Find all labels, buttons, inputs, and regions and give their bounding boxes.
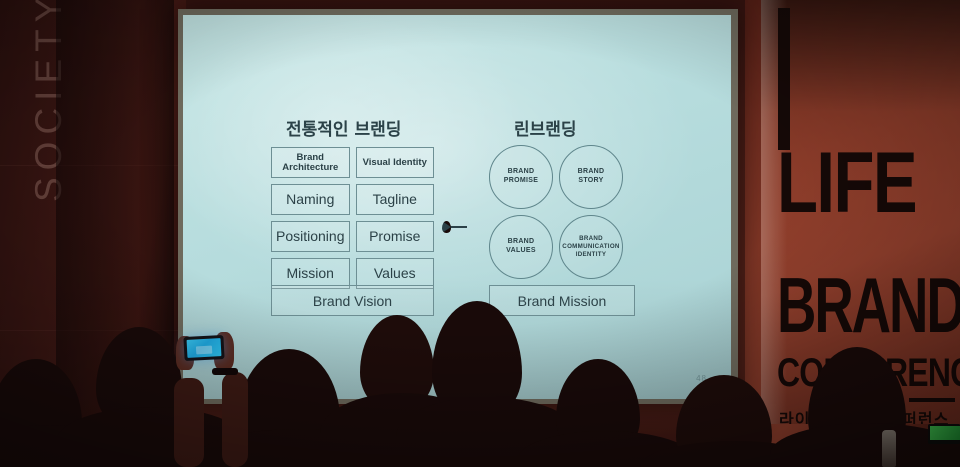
- cell-tagline: Tagline: [356, 184, 435, 215]
- lean-branding-circles: BRANDPROMISE BRANDSTORY BRANDVALUES BRAN…: [489, 145, 633, 277]
- grid-row: Positioning Promise: [271, 221, 434, 252]
- cell-label: Mission: [287, 266, 334, 281]
- box-brand-mission: Brand Mission: [489, 285, 635, 316]
- slide-heading-traditional: 전통적인 브랜딩: [286, 115, 401, 140]
- banner-line-conference: CONFERENCE: [777, 357, 960, 390]
- grid-row: Naming Tagline: [271, 184, 434, 215]
- laptop-screen: [930, 426, 960, 440]
- smartphone-camera: [183, 335, 224, 361]
- cell-visual-identity: Visual Identity: [356, 147, 435, 178]
- raised-arm: [222, 372, 248, 467]
- circle-label: BRANDSTORY: [578, 168, 605, 186]
- circle-label: BRANDCOMMUNICATIONIDENTITY: [562, 235, 619, 258]
- raised-arm: [174, 378, 204, 467]
- cell-label-line1: BrandArchitecture: [282, 153, 338, 173]
- cell-naming: Naming: [271, 184, 350, 215]
- slide-page-number: 48: [696, 374, 707, 383]
- wrist-band: [212, 368, 238, 375]
- projection-screen: 전통적인 브랜딩 린브랜딩 BrandArchitecture Visual I…: [183, 15, 731, 399]
- grid-row: BrandArchitecture Visual Identity: [271, 147, 434, 178]
- box-brand-vision: Brand Vision: [271, 285, 434, 316]
- laptop-device: [928, 424, 960, 444]
- phone-screen-content: [196, 346, 212, 355]
- circle-label: BRANDVALUES: [506, 238, 536, 256]
- banner-vertical-bar: [778, 8, 790, 150]
- phone-screen: [187, 338, 222, 358]
- arrow-head: [442, 221, 451, 233]
- cell-positioning: Positioning: [271, 221, 350, 252]
- cell-label: Tagline: [373, 192, 417, 207]
- cell-label: Promise: [369, 229, 420, 244]
- right-arrow-icon: [443, 215, 479, 239]
- slide-heading-lean: 린브랜딩: [514, 115, 577, 140]
- cell-brand-architecture: BrandArchitecture: [271, 147, 350, 178]
- circle-brand-communication-identity: BRANDCOMMUNICATIONIDENTITY: [559, 215, 623, 279]
- conference-photo-scene: SOCIETY LIFE BRAND CONFERENCE 라이프 브랜드 컨퍼…: [0, 0, 960, 467]
- traditional-branding-grid: BrandArchitecture Visual Identity Naming…: [271, 147, 434, 295]
- cell-label: Values: [374, 266, 416, 281]
- banner-line-brand: BRAND: [777, 274, 960, 338]
- cell-promise: Promise: [356, 221, 435, 252]
- conference-banner: LIFE BRAND CONFERENCE 라이프 브랜드 컨퍼런스: [761, 0, 960, 424]
- cell-label: Positioning: [276, 229, 345, 244]
- left-shadow-strip: [56, 0, 174, 467]
- banner-korean-subtitle: 라이프 브랜드 컨퍼런스: [779, 406, 949, 424]
- banner-line-life: LIFE: [777, 148, 916, 219]
- water-bottle: [882, 430, 896, 467]
- circle-brand-story: BRANDSTORY: [559, 145, 623, 209]
- cell-label: Visual Identity: [363, 158, 427, 168]
- circle-brand-values: BRANDVALUES: [489, 215, 553, 279]
- cell-label: Naming: [286, 192, 334, 207]
- circle-brand-promise: BRANDPROMISE: [489, 145, 553, 209]
- banner-rule: [909, 398, 955, 402]
- banner-top-shadow: [761, 0, 960, 112]
- presentation-slide: 전통적인 브랜딩 린브랜딩 BrandArchitecture Visual I…: [183, 15, 731, 399]
- circle-label: BRANDPROMISE: [504, 168, 538, 186]
